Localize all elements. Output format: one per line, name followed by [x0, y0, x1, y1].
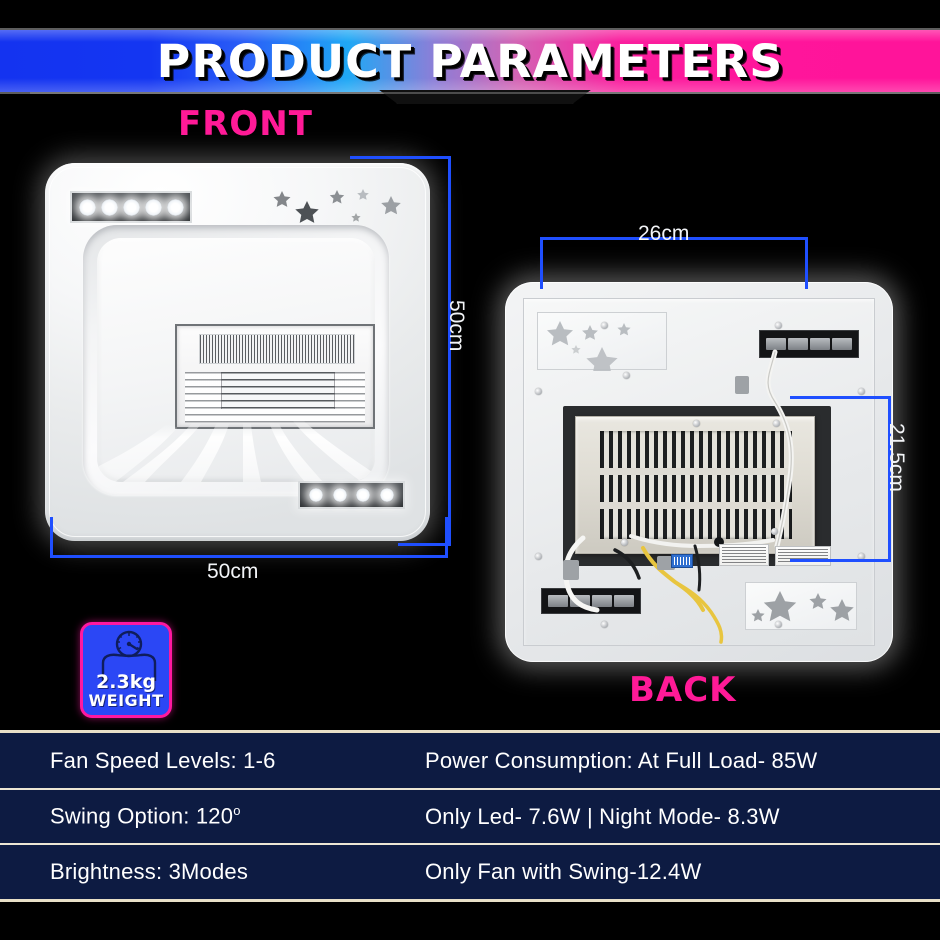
back-view-label: BACK — [629, 670, 737, 710]
internal-wiring — [523, 298, 875, 646]
back-mounting-plate — [523, 298, 875, 646]
front-product-image — [45, 163, 430, 541]
led-light-icon — [333, 488, 347, 502]
product-warning-sticker — [775, 546, 831, 566]
led-light-icon — [167, 199, 184, 216]
screw-icon — [693, 420, 700, 427]
spec-led-night-mode-power: Only Led- 7.6W | Night Mode- 8.3W — [370, 804, 940, 830]
back-width-dim-tick-right — [805, 237, 808, 289]
back-height-dim-label: 21.5cm — [884, 423, 908, 492]
back-height-dim-tick-top — [790, 396, 890, 399]
led-light-icon — [145, 199, 162, 216]
front-height-dim-label: 50cm — [444, 300, 468, 351]
led-light-icon — [380, 488, 394, 502]
star-decoration-front — [260, 185, 405, 230]
back-product-image — [505, 282, 893, 662]
spec-fan-speed-levels: Fan Speed Levels: 1-6 — [0, 748, 370, 774]
fan-vent-grille — [175, 324, 375, 429]
led-light-icon — [79, 199, 96, 216]
led-light-icon — [309, 488, 323, 502]
grille-intake-mesh — [199, 334, 355, 364]
led-light-icon — [123, 199, 140, 216]
screw-icon — [775, 621, 782, 628]
header-banner: PRODUCT PARAMETERS — [0, 30, 940, 98]
spec-swing-option: Swing Option: 120o — [0, 803, 370, 829]
table-row: Swing Option: 120o Only Led- 7.6W | Nigh… — [0, 788, 940, 843]
infographic-page: PRODUCT PARAMETERS FRONT — [0, 0, 940, 940]
sticker-text-lines — [722, 547, 766, 563]
degree-symbol: o — [233, 803, 240, 818]
spec-swing-option-text: Swing Option: 120 — [50, 804, 233, 829]
front-width-dim-tick-right — [445, 517, 448, 558]
page-title: PRODUCT PARAMETERS — [0, 30, 940, 92]
screw-icon — [535, 388, 542, 395]
grille-louvers — [185, 372, 365, 423]
front-recessed-ring — [83, 225, 389, 495]
front-height-dim-tick-top — [350, 156, 450, 159]
led-light-icon — [356, 488, 370, 502]
front-view-label: FRONT — [178, 104, 313, 144]
front-inner-panel — [97, 238, 375, 482]
front-height-dim-tick-bottom — [398, 543, 450, 546]
screw-icon — [621, 539, 628, 546]
screw-icon — [601, 621, 608, 628]
back-width-dim-label: 26cm — [638, 222, 689, 246]
front-width-dim-tick-left — [50, 517, 53, 558]
screw-icon — [601, 322, 608, 329]
led-light-strip-top — [70, 191, 192, 223]
back-height-dim-tick-bottom — [790, 559, 890, 562]
spec-fan-with-swing-power: Only Fan with Swing-12.4W — [370, 859, 940, 885]
specifications-table: Fan Speed Levels: 1-6 Power Consumption:… — [0, 730, 940, 902]
product-spec-sticker — [719, 544, 769, 566]
spec-power-consumption-full-load: Power Consumption: At Full Load- 85W — [370, 748, 940, 774]
screw-icon — [773, 420, 780, 427]
table-row: Fan Speed Levels: 1-6 Power Consumption:… — [0, 733, 940, 788]
screw-icon — [775, 322, 782, 329]
front-width-dim-line — [50, 555, 448, 558]
back-width-dim-tick-left — [540, 237, 543, 289]
led-light-icon — [101, 199, 118, 216]
weight-value: 2.3kg — [83, 671, 169, 693]
spec-brightness-modes: Brightness: 3Modes — [0, 859, 370, 885]
screw-icon — [535, 553, 542, 560]
led-light-strip-bottom — [298, 481, 405, 509]
front-width-dim-label: 50cm — [207, 560, 258, 584]
banner-underline-divider — [30, 92, 910, 94]
screw-icon — [771, 528, 778, 535]
screw-icon — [858, 388, 865, 395]
screw-icon — [623, 372, 630, 379]
blue-label-sticker — [671, 554, 693, 568]
weight-badge: 2.3kg WEIGHT — [80, 622, 172, 718]
table-row: Brightness: 3Modes Only Fan with Swing-1… — [0, 843, 940, 898]
weight-label: WEIGHT — [83, 691, 169, 710]
